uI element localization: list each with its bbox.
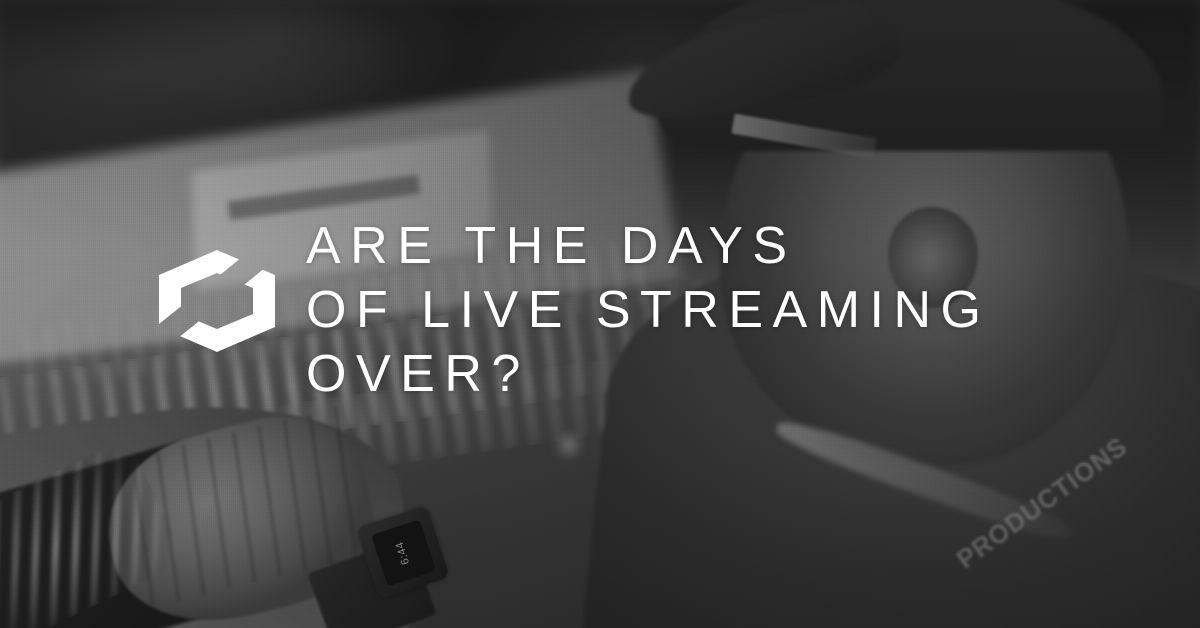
headline-line-1: ARE THE DAYS xyxy=(306,214,1146,278)
content-overlay: ARE THE DAYS OF LIVE STREAMING OVER? xyxy=(0,0,1200,628)
headline-line-3: OVER? xyxy=(306,342,1146,406)
headline-line-2: OF LIVE STREAMING xyxy=(306,278,1146,342)
headline: ARE THE DAYS OF LIVE STREAMING OVER? xyxy=(306,214,1146,406)
share-card: PRODUCTIONS 6:44 xyxy=(0,0,1200,628)
hexagon-slash-logo-icon xyxy=(158,249,276,353)
